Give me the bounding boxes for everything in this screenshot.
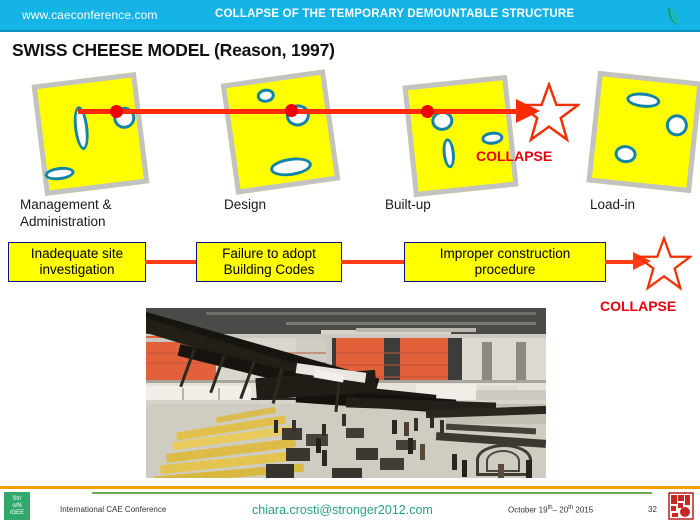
cheese-slice-built-up (402, 75, 518, 197)
footer-date: October 19th– 20th 2015 (508, 505, 593, 515)
stage-label-load-in: Load-in (590, 196, 700, 213)
cheese-slice-management (32, 72, 150, 196)
cause-line2: investigation (31, 262, 123, 278)
cause-line1: Improper construction (440, 246, 571, 262)
cheese-slice-load-in (586, 71, 700, 193)
footer-date-month: October 19 (508, 506, 548, 515)
header-presentation-title: COLLAPSE OF THE TEMPORARY DEMOUNTABLE ST… (215, 8, 574, 20)
star-icon (636, 236, 692, 292)
cheese-slice-body (586, 71, 700, 193)
footer-date-mid: – 20 (553, 506, 569, 515)
cause-line2: Building Codes (222, 262, 316, 278)
header-underline (0, 30, 700, 32)
collapsed-truss-arena-photo (146, 308, 546, 478)
stage-label-built-up: Built-up (385, 196, 505, 213)
header-website-url: www.caeconference.com (22, 8, 158, 22)
stage-label-line2: Administration (20, 213, 160, 230)
footer-rule-orange (0, 486, 700, 489)
stamp-logo (668, 492, 694, 520)
cause-box-failure-to-adopt-building-codes: Failure to adopt Building Codes (196, 242, 342, 282)
hole (614, 144, 638, 164)
stage-label-line1: Management & (20, 196, 160, 213)
organizer-logo-line2: o/N (12, 503, 21, 510)
cheese-slice-design (221, 69, 341, 195)
footer-page-number: 32 (648, 505, 657, 514)
hole (441, 138, 456, 169)
star-icon (518, 82, 580, 144)
organizer-logo: Str/ o/N /GEE (4, 492, 30, 520)
cheese-slice-body (402, 75, 518, 197)
cause-box-inadequate-site-investigation: Inadequate site investigation (8, 242, 146, 282)
trajectory-node-dot (110, 105, 123, 118)
cheese-slice-body (221, 69, 341, 195)
organizer-logo-line3: /GEE (10, 510, 24, 517)
cause-line1: Failure to adopt (222, 246, 316, 262)
trajectory-node-dot (285, 104, 298, 117)
stage-label-management: Management & Administration (20, 196, 160, 230)
hole (665, 113, 689, 137)
cheese-slice-body (32, 72, 150, 196)
hole (481, 131, 504, 146)
footer-conference-name: International CAE Conference (60, 505, 166, 514)
cause-line1: Inadequate site (31, 246, 123, 262)
hole (256, 88, 276, 104)
footer-rule-green (92, 492, 652, 494)
cause-connector (341, 260, 405, 264)
leaf-icon (664, 5, 686, 27)
footer-email[interactable]: chiara.crosti@stronger2012.com (252, 503, 433, 517)
organizer-logo-line1: Str/ (12, 496, 21, 503)
hole (44, 165, 75, 182)
collapse-label-bottom: COLLAPSE (600, 298, 676, 314)
page-title: SWISS CHEESE MODEL (Reason, 1997) (12, 40, 335, 61)
cause-connector (145, 260, 197, 264)
cause-line2: procedure (440, 262, 571, 278)
footer-date-year: 2015 (573, 506, 593, 515)
collapse-label-top: COLLAPSE (476, 148, 552, 164)
trajectory-node-dot (421, 105, 434, 118)
accident-trajectory-line (78, 109, 526, 114)
cause-box-improper-construction-procedure: Improper construction procedure (404, 242, 606, 282)
stage-label-design: Design (224, 196, 344, 213)
hole (269, 155, 313, 179)
hole (626, 91, 661, 109)
